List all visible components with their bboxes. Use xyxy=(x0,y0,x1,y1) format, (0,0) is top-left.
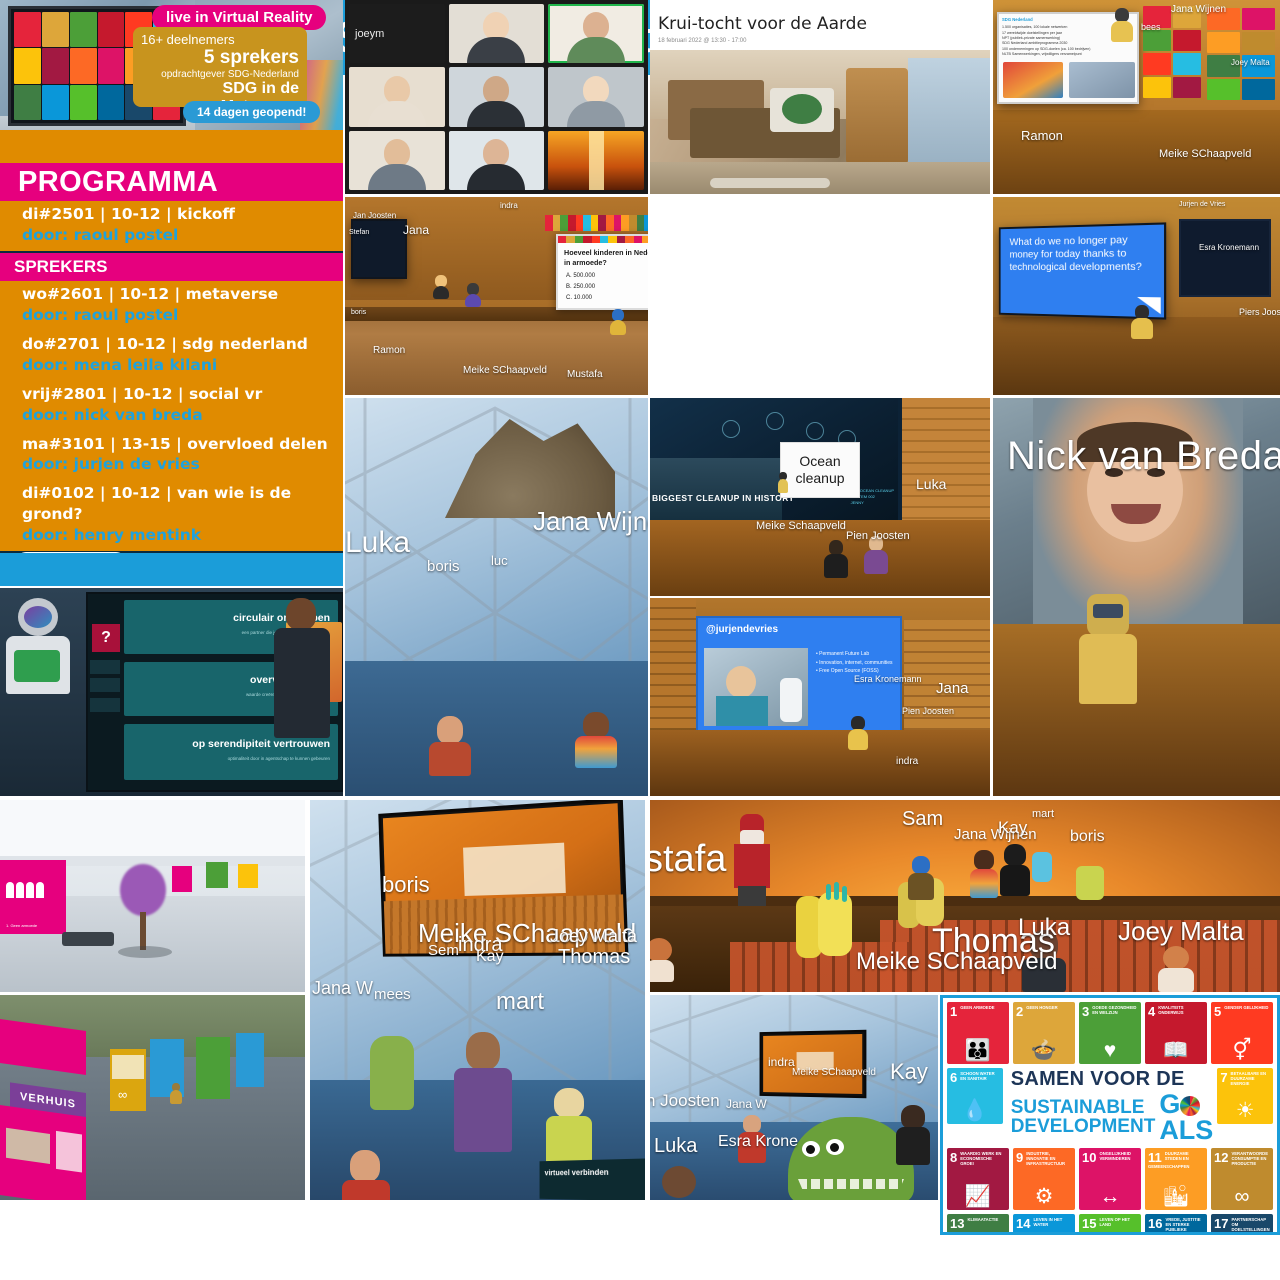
sdg-goal-icon: ♥ xyxy=(1104,1040,1116,1061)
sdg-goal-number: 9 xyxy=(1016,1151,1023,1164)
sdg-goal-label: SCHOON WATER EN SANITAIR xyxy=(950,1071,1000,1081)
video-tile[interactable] xyxy=(449,4,545,63)
sdg-goal-16[interactable]: 16 VREDE, JUSTITIE EN STERKE PUBLIEKE DI… xyxy=(1145,1214,1207,1235)
programma-item-speaker: door: mena leila kilani xyxy=(22,355,343,376)
sdg-goal-icon: ⚙ xyxy=(1035,1186,1054,1207)
krui-subtitle: 18 februari 2022 @ 13:30 - 17:00 xyxy=(658,38,990,44)
quiz-option[interactable]: C. 10.000 xyxy=(566,293,648,304)
participant-video xyxy=(567,12,625,63)
programma-item-title: di#0102 | 10-12 | van wie is de grond? xyxy=(22,483,343,525)
jurjendevries-scene: @jurjendevries • Permanent Future Lab• I… xyxy=(650,598,990,796)
sdg-banner-strip xyxy=(545,215,648,231)
geodesic-dome-scene: Luka boris luc Jana Wijnen xyxy=(345,398,648,796)
sdg-goal-number: 12 xyxy=(1214,1151,1228,1164)
theatre-seats xyxy=(880,920,1280,992)
programma-sessions-list: wo#2601 | 10-12 | metaverse door: raoul … xyxy=(0,281,343,551)
sdg-poster-title: SAMEN VOOR DE SUSTAINABLE DEVELOPMENT GA… xyxy=(1007,1068,1214,1144)
sdg-goal-label: KWALITEITS ONDERWIJS xyxy=(1148,1005,1204,1015)
sdg-goal-icon: ↔ xyxy=(1100,1186,1121,1207)
sdg-row-1: 1 GEEN ARMOEDE 👪 2 GEEN HONGER 🍲 3 GOEDE… xyxy=(947,1002,1273,1064)
sdg-goal-15[interactable]: 15 LEVEN OP HET LAND 🌳 xyxy=(1079,1214,1141,1235)
sdg-poster: 1 GEEN ARMOEDE 👪 2 GEEN HONGER 🍲 3 GOEDE… xyxy=(940,995,1280,1235)
sdg-goal-number: 6 xyxy=(950,1071,957,1084)
sdg-presentation-scene: SDG Nederland 1.500 organisaties, 100 lo… xyxy=(993,0,1280,194)
sdg-title-development: DEVELOPMENT xyxy=(1011,1117,1156,1136)
sdg-goal-label: GEEN ARMOEDE xyxy=(950,1005,1006,1010)
promo-programma-card: HKU live in Virtual Reality 16+ deelneme… xyxy=(0,0,343,586)
sdg-goal-12[interactable]: 12 VERANTWOORDE CONSUMPTIE EN PRODUCTIE … xyxy=(1211,1148,1273,1210)
programma-item[interactable]: vrij#2801 | 10-12 | social vr door: nick… xyxy=(0,381,343,431)
participant-video xyxy=(467,76,525,127)
sdg-goal-number: 8 xyxy=(950,1151,957,1164)
dome-slide-bold: virtueel verbinden xyxy=(545,1168,609,1177)
sdg-middle-row: 6 SCHOON WATER EN SANITAIR 💧 SAMEN VOOR … xyxy=(947,1068,1273,1144)
dome-dino-scene: n Joosten Jana W Esra Krone Luka indra M… xyxy=(650,995,938,1200)
sdg-title-sustainable: SUSTAINABLE xyxy=(1011,1098,1156,1117)
sdg-goal-7[interactable]: 7 BETAALBARE EN DUURZAME ENERGIE ☀ xyxy=(1217,1068,1273,1124)
pill-days-open: 14 dagen geopend! xyxy=(183,101,320,123)
programma-item-speaker: door: henry mentink xyxy=(22,525,343,546)
sdg-goal-icon: 🍲 xyxy=(1031,1040,1057,1061)
sdg-row-3: 8 WAARDIG WERK EN ECONOMISCHE GROEI 📈 9 … xyxy=(947,1148,1273,1210)
promo-orange-band xyxy=(0,130,343,165)
sdg-goal-label: GOEDE GEZONDHEID EN WELZIJN xyxy=(1082,1005,1138,1015)
sdg-goal-4[interactable]: 4 KWALITEITS ONDERWIJS 📖 xyxy=(1145,1002,1207,1064)
sdg-goal-number: 16 xyxy=(1148,1217,1162,1230)
promo-client: opdrachtgever SDG-Nederland xyxy=(141,69,299,80)
promo-participants: 16+ deelnemers xyxy=(141,32,299,47)
sdg-goal-label: WAARDIG WERK EN ECONOMISCHE GROEI xyxy=(950,1151,1006,1166)
question-mark-icon: ? xyxy=(92,624,120,652)
sdg-goal-number: 4 xyxy=(1148,1005,1155,1018)
sdg-goal-label: GENDER GELIJKHEID xyxy=(1214,1005,1270,1010)
quiz-vr-scene: Hoeveel kinderen in Nederland leven in a… xyxy=(345,197,648,395)
programma-item[interactable]: di#0102 | 10-12 | van wie is de grond? d… xyxy=(0,480,343,551)
sdg-goal-number: 14 xyxy=(1016,1217,1030,1230)
video-tile[interactable]: joeym xyxy=(349,4,445,63)
sdg-title-line2: SUSTAINABLE DEVELOPMENT GALS xyxy=(1011,1091,1214,1144)
sdg-goal-icon: 💧 xyxy=(962,1100,988,1121)
programma-item[interactable]: ma#3101 | 13-15 | overvloed delen door: … xyxy=(0,431,343,481)
sdg-goal-icon: 📖 xyxy=(1163,1040,1189,1061)
programma-item-speaker: door: raoul postel xyxy=(22,305,343,326)
sdg-goal-number: 5 xyxy=(1214,1005,1221,1018)
programma-item-title: do#2701 | 10-12 | sdg nederland xyxy=(22,334,343,355)
sdg-goal-10[interactable]: 10 ONGELIJKHEID VERMINDEREN ↔ xyxy=(1079,1148,1141,1210)
ocean-cleanup-sign: Ocean cleanup xyxy=(780,442,860,498)
ocean-big-screen: BIGGEST CLEANUP IN HISTORY THE OCEAN CLE… xyxy=(650,398,898,520)
quiz-option[interactable]: B. 250.000 xyxy=(566,282,648,293)
video-tile[interactable] xyxy=(449,67,545,126)
technology-question-scene: What do we no longer pay money for today… xyxy=(993,197,1280,395)
sdg-goal-9[interactable]: 9 INDUSTRIE, INNOVATIE EN INFRASTRUCTUUR… xyxy=(1013,1148,1075,1210)
programma-item-speaker: door: raoul postel xyxy=(22,225,343,246)
showroom-tree-crown xyxy=(120,864,166,916)
sdg-wheel-icon xyxy=(1180,1096,1200,1116)
sdg-goal-icon: ∞ xyxy=(1235,1186,1250,1207)
sdg-goal-number: 3 xyxy=(1082,1005,1089,1018)
promo-gold-box: 16+ deelnemers 5 sprekers opdrachtgever … xyxy=(133,27,307,107)
sdg-goal-icon: 👪 xyxy=(965,1040,991,1061)
video-conference-grid: joeym xyxy=(345,0,648,194)
krui-header: Krui-tocht voor de Aarde 18 februari 202… xyxy=(650,0,990,44)
video-tile[interactable] xyxy=(548,131,644,190)
sdg-goal-3[interactable]: 3 GOEDE GEZONDHEID EN WELZIJN ♥ xyxy=(1079,1002,1141,1064)
sdg-goal-icon: 📈 xyxy=(965,1186,991,1207)
sdg-goal-14[interactable]: 14 LEVEN IN HET WATER 🐟 xyxy=(1013,1214,1075,1235)
sdg-goal-11[interactable]: 11 DUURZAME STEDEN EN GEMEENSCHAPPEN 🏙 xyxy=(1145,1148,1207,1210)
sdg-goal-number: 13 xyxy=(950,1217,964,1230)
sdg-goal-5[interactable]: 5 GENDER GELIJKHEID ⚥ xyxy=(1211,1002,1273,1064)
sdg-goal-icon: ☀ xyxy=(1236,1100,1255,1121)
sdg-goal-2[interactable]: 2 GEEN HONGER 🍲 xyxy=(1013,1002,1075,1064)
participant-video xyxy=(368,76,426,127)
sdg-goal-17[interactable]: 17 PARTNERSCHAP OM DOELSTELLINGEN TE BER… xyxy=(1211,1214,1273,1235)
sdg-goal-number: 1 xyxy=(950,1005,957,1018)
pay-question-text: What do we no longer pay money for today… xyxy=(1001,225,1164,283)
promo-blue-footer xyxy=(0,553,343,586)
quiz-screen: Hoeveel kinderen in Nederland leven in a… xyxy=(556,234,648,310)
sdg-goal-number: 11 xyxy=(1148,1151,1162,1164)
sdg-goal-number: 17 xyxy=(1214,1217,1228,1230)
krui-tocht-article: Krui-tocht voor de Aarde 18 februari 202… xyxy=(650,0,990,194)
participant-video xyxy=(467,12,525,63)
participant-name: joeym xyxy=(355,28,384,40)
dome-meeting-scene: virtueel verbinden boris Meike SChaapvel… xyxy=(310,800,645,1200)
video-tile[interactable] xyxy=(349,131,445,190)
infinity-icon: ∞ xyxy=(118,1087,127,1102)
sdg-expo-scene: VERHUIS ∞ xyxy=(0,995,305,1200)
theatre-applause-scene: stafa Sam mart Jana Wijnen Kay boris Tho… xyxy=(650,800,1280,992)
ocean-poster-text: BIGGEST CLEANUP IN HISTORY xyxy=(652,493,794,504)
sdg-goal-number: 15 xyxy=(1082,1217,1096,1230)
sdg-title-line1: SAMEN VOOR DE xyxy=(1011,1068,1214,1091)
sdg-goal-number: 2 xyxy=(1016,1005,1023,1018)
participant-video xyxy=(567,76,625,127)
quiz-side-screen xyxy=(351,219,407,279)
jurjen-slide: @jurjendevries • Permanent Future Lab• I… xyxy=(696,616,902,734)
programma-item-title: vrij#2801 | 10-12 | social vr xyxy=(22,384,343,405)
programma-item-title: ma#3101 | 13-15 | overvloed delen xyxy=(22,434,343,455)
sdg-goal-label: GEEN HONGER xyxy=(1016,1005,1072,1010)
dino-screen xyxy=(760,1030,867,1099)
sdg-goal-1[interactable]: 1 GEEN ARMOEDE 👪 xyxy=(947,1002,1009,1064)
ocean-cleanup-scene: BIGGEST CLEANUP IN HISTORY THE OCEAN CLE… xyxy=(650,398,990,596)
sdg-goal-number: 10 xyxy=(1082,1151,1096,1164)
programma-kickoff-list: di#2501 | 10-12 | kickoff door: raoul po… xyxy=(0,201,343,251)
programma-item-speaker: door: nick van breda xyxy=(22,405,343,426)
dome-meeting-screen xyxy=(378,800,628,957)
programma-item[interactable]: do#2701 | 10-12 | sdg nederland door: me… xyxy=(0,331,343,381)
sdg-title-als: ALS xyxy=(1159,1115,1213,1145)
programma-item[interactable]: wo#2601 | 10-12 | metaverse door: raoul … xyxy=(0,281,343,331)
sdg-goal-label: BETAALBARE EN DUURZAME ENERGIE xyxy=(1220,1071,1270,1086)
participant-video xyxy=(467,139,525,190)
promo-speakers: 5 sprekers xyxy=(141,47,299,69)
programma-item-title: wo#2601 | 10-12 | metaverse xyxy=(22,284,343,305)
virtual-showroom-scene: 1. Geen armoede xyxy=(0,800,305,992)
jurjen-bullet: • Permanent Future Lab xyxy=(816,650,900,659)
nick-van-breda-scene: Nick van Breda xyxy=(993,398,1280,796)
jurjen-handle: @jurjendevries xyxy=(698,618,900,641)
programma-item[interactable]: di#2501 | 10-12 | kickoff door: raoul po… xyxy=(0,201,343,251)
video-tile[interactable] xyxy=(548,4,644,63)
quiz-option[interactable]: A. 500.000 xyxy=(566,271,648,282)
programma-item-speaker: door: jurjen de vries xyxy=(22,454,343,475)
programma-heading: PROGRAMMA xyxy=(0,163,343,201)
sdg-row-4: 13 KLIMAATACTIE 🌍 14 LEVEN IN HET WATER … xyxy=(947,1214,1273,1235)
video-tile[interactable] xyxy=(548,67,644,126)
jurjen-bullet: • Free Open Source (FOSS) xyxy=(816,667,900,676)
seminar-collage: HKU live in Virtual Reality 16+ deelneme… xyxy=(0,0,1280,1280)
video-tile[interactable] xyxy=(449,131,545,190)
sdg-goal-6[interactable]: 6 SCHOON WATER EN SANITAIR 💧 xyxy=(947,1068,1003,1124)
sdg-goal-number: 7 xyxy=(1220,1071,1227,1084)
showroom-pink-panel: 1. Geen armoede xyxy=(0,860,66,934)
sdg-goal-13[interactable]: 13 KLIMAATACTIE 🌍 xyxy=(947,1214,1009,1235)
programma-item-title: di#2501 | 10-12 | kickoff xyxy=(22,204,343,225)
quiz-question: Hoeveel kinderen in Nederland leven in a… xyxy=(558,243,648,267)
jurjen-bullet: • Innovation, internet, communities xyxy=(816,659,900,668)
sdg-goal-icon: 🏙 xyxy=(1163,1186,1190,1207)
ocean-sign-text: Ocean cleanup xyxy=(781,453,859,487)
sdg-goal-8[interactable]: 8 WAARDIG WERK EN ECONOMISCHE GROEI 📈 xyxy=(947,1148,1009,1210)
circular-design-slide-scene: circulair ontwerpen een partner die je h… xyxy=(0,588,343,796)
participant-video xyxy=(368,139,426,190)
sdg-goal-label: INDUSTRIE, INNOVATIE EN INFRASTRUCTUUR xyxy=(1016,1151,1072,1166)
krui-photo xyxy=(650,50,990,194)
sprekers-heading: SPREKERS xyxy=(0,253,343,281)
video-tile[interactable] xyxy=(349,67,445,126)
sdg-goal-icon: ⚥ xyxy=(1233,1040,1252,1061)
krui-title: Krui-tocht voor de Aarde xyxy=(658,14,990,34)
